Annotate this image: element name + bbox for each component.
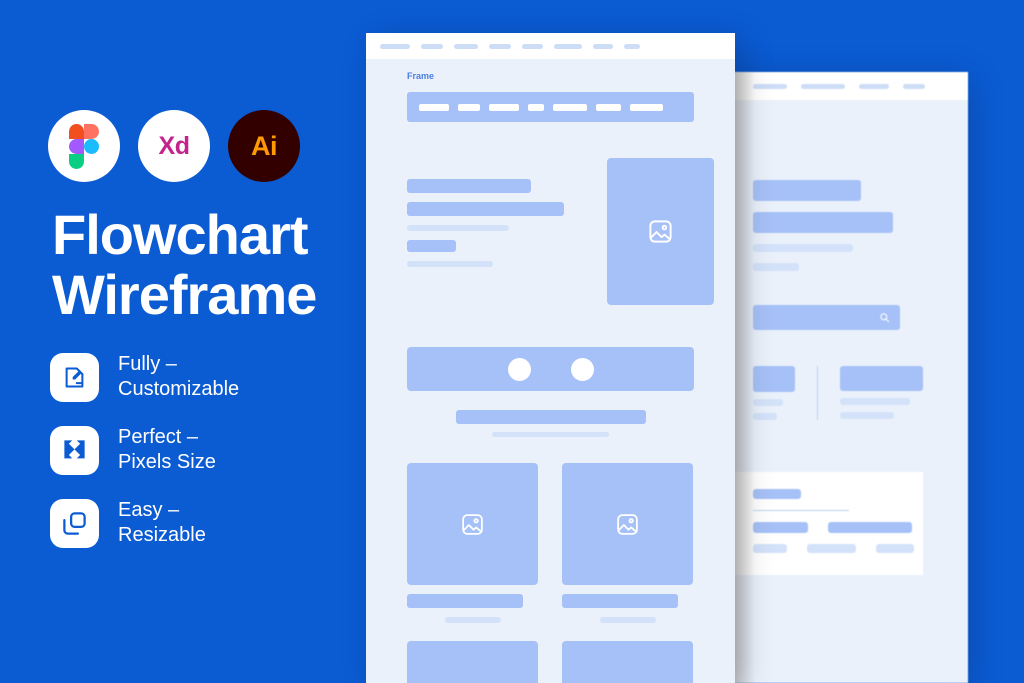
topbar-dash	[753, 84, 787, 89]
panel-bar	[828, 522, 912, 533]
center-bar	[456, 410, 646, 424]
nav-item-pill	[596, 104, 621, 111]
hero-image-placeholder[interactable]	[607, 158, 714, 305]
topbar-dash	[421, 44, 443, 49]
topbar-dash	[593, 44, 613, 49]
nav-item-pill	[489, 104, 519, 111]
figma-logo	[48, 110, 120, 182]
grid-card[interactable]	[562, 641, 693, 683]
headline-line-1: Flowchart	[52, 205, 316, 265]
hero-text-bar	[407, 240, 456, 252]
panel-divider	[753, 510, 849, 511]
back-split-left-bar	[753, 399, 783, 406]
resize-arrows-icon	[50, 426, 99, 475]
grid-card[interactable]	[407, 463, 538, 623]
card-grid-row-1	[407, 463, 735, 623]
feature-item-resizable: Easy – Resizable	[50, 498, 239, 548]
navbar[interactable]	[407, 92, 694, 122]
grid-caption-bar	[407, 594, 523, 608]
center-bar	[492, 432, 609, 437]
adobe-illustrator-label: Ai	[251, 131, 277, 162]
grid-subcaption-bar	[600, 617, 656, 623]
wireframe-card-front[interactable]: Frame	[366, 33, 735, 683]
figma-mark-icon	[69, 124, 99, 168]
panel-row-1	[753, 522, 923, 533]
frame-label: Frame	[407, 71, 735, 81]
edit-pencil-icon	[50, 353, 99, 402]
hero-text-bars	[407, 158, 564, 305]
adobe-illustrator-logo: Ai	[228, 110, 300, 182]
feature-item-customizable: Fully – Customizable	[50, 352, 239, 402]
hero-text-bar	[407, 225, 509, 231]
back-split-left-bar	[753, 413, 777, 420]
nav-item-pill	[458, 104, 480, 111]
topbar-dash	[554, 44, 582, 49]
panel-row-2	[753, 544, 923, 553]
search-input[interactable]	[753, 305, 900, 330]
panel-bar	[876, 544, 914, 553]
app-logo-row: Xd Ai	[48, 110, 300, 182]
nav-item-pill	[528, 104, 544, 111]
image-placeholder-icon	[647, 218, 674, 245]
image-placeholder-icon	[460, 512, 485, 537]
duplicate-squares-icon	[50, 499, 99, 548]
panel-bar	[753, 522, 808, 533]
search-icon	[879, 312, 890, 323]
back-card-body	[731, 100, 968, 472]
left-promo-panel: Xd Ai Flowchart Wireframe Fully – Custom…	[0, 0, 366, 683]
hero-text-bar	[407, 179, 531, 193]
back-card-split-section	[753, 366, 968, 420]
grid-image-placeholder[interactable]	[407, 641, 538, 683]
front-card-topbar	[366, 33, 735, 59]
topbar-dash	[454, 44, 478, 49]
grid-image-placeholder[interactable]	[562, 641, 693, 683]
adobe-xd-logo: Xd	[138, 110, 210, 182]
panel-heading-bar	[753, 489, 801, 499]
panel-bar	[807, 544, 856, 553]
back-card-white-panel	[731, 472, 923, 575]
nav-item-pill	[630, 104, 663, 111]
hero-text-bar	[407, 202, 564, 216]
back-card-topbar	[731, 72, 968, 100]
topbar-dash	[380, 44, 410, 49]
banner-block[interactable]	[407, 347, 694, 391]
back-card-split-right	[840, 366, 923, 419]
nav-item-pill	[419, 104, 449, 111]
poster-canvas: Xd Ai Flowchart Wireframe Fully – Custom…	[0, 0, 1024, 683]
back-split-right-bar	[840, 412, 894, 419]
grid-subcaption-bar	[445, 617, 501, 623]
feature-list: Fully – Customizable Perfect – Pixels Si…	[50, 352, 239, 548]
grid-caption-bar	[562, 594, 678, 608]
image-placeholder-icon	[615, 512, 640, 537]
grid-image-placeholder[interactable]	[562, 463, 693, 585]
back-text-bar	[753, 212, 893, 233]
hero-text-bar	[407, 261, 493, 267]
adobe-xd-label: Xd	[159, 132, 190, 161]
panel-bar	[753, 544, 787, 553]
hero-section	[407, 158, 735, 305]
back-text-bar	[753, 263, 799, 271]
back-text-bar	[753, 244, 853, 252]
headline-line-2: Wireframe	[52, 265, 316, 325]
topbar-dash	[801, 84, 845, 89]
card-grid-row-2	[407, 641, 735, 683]
topbar-dash	[859, 84, 889, 89]
vertical-divider	[817, 366, 818, 420]
feature-label-resizable: Easy – Resizable	[118, 498, 206, 548]
grid-card[interactable]	[562, 463, 693, 623]
back-card-split-left	[753, 366, 795, 420]
back-split-right-bar	[840, 366, 923, 391]
wireframe-card-back[interactable]	[731, 72, 968, 683]
feature-label-customizable: Fully – Customizable	[118, 352, 239, 402]
back-card-text-bars	[753, 180, 968, 271]
feature-label-pixels: Perfect – Pixels Size	[118, 425, 216, 475]
topbar-dash	[522, 44, 543, 49]
back-split-left-bar	[753, 366, 795, 392]
topbar-dash	[489, 44, 511, 49]
page-title: Flowchart Wireframe	[52, 205, 316, 326]
center-text-bars	[366, 410, 735, 437]
nav-item-pill	[553, 104, 587, 111]
topbar-dash	[624, 44, 640, 49]
feature-item-pixels: Perfect – Pixels Size	[50, 425, 239, 475]
grid-image-placeholder[interactable]	[407, 463, 538, 585]
banner-dot	[571, 358, 594, 381]
topbar-dash	[903, 84, 925, 89]
back-text-bar	[753, 180, 861, 201]
back-split-right-bar	[840, 398, 910, 405]
grid-card[interactable]	[407, 641, 538, 683]
banner-dot	[508, 358, 531, 381]
